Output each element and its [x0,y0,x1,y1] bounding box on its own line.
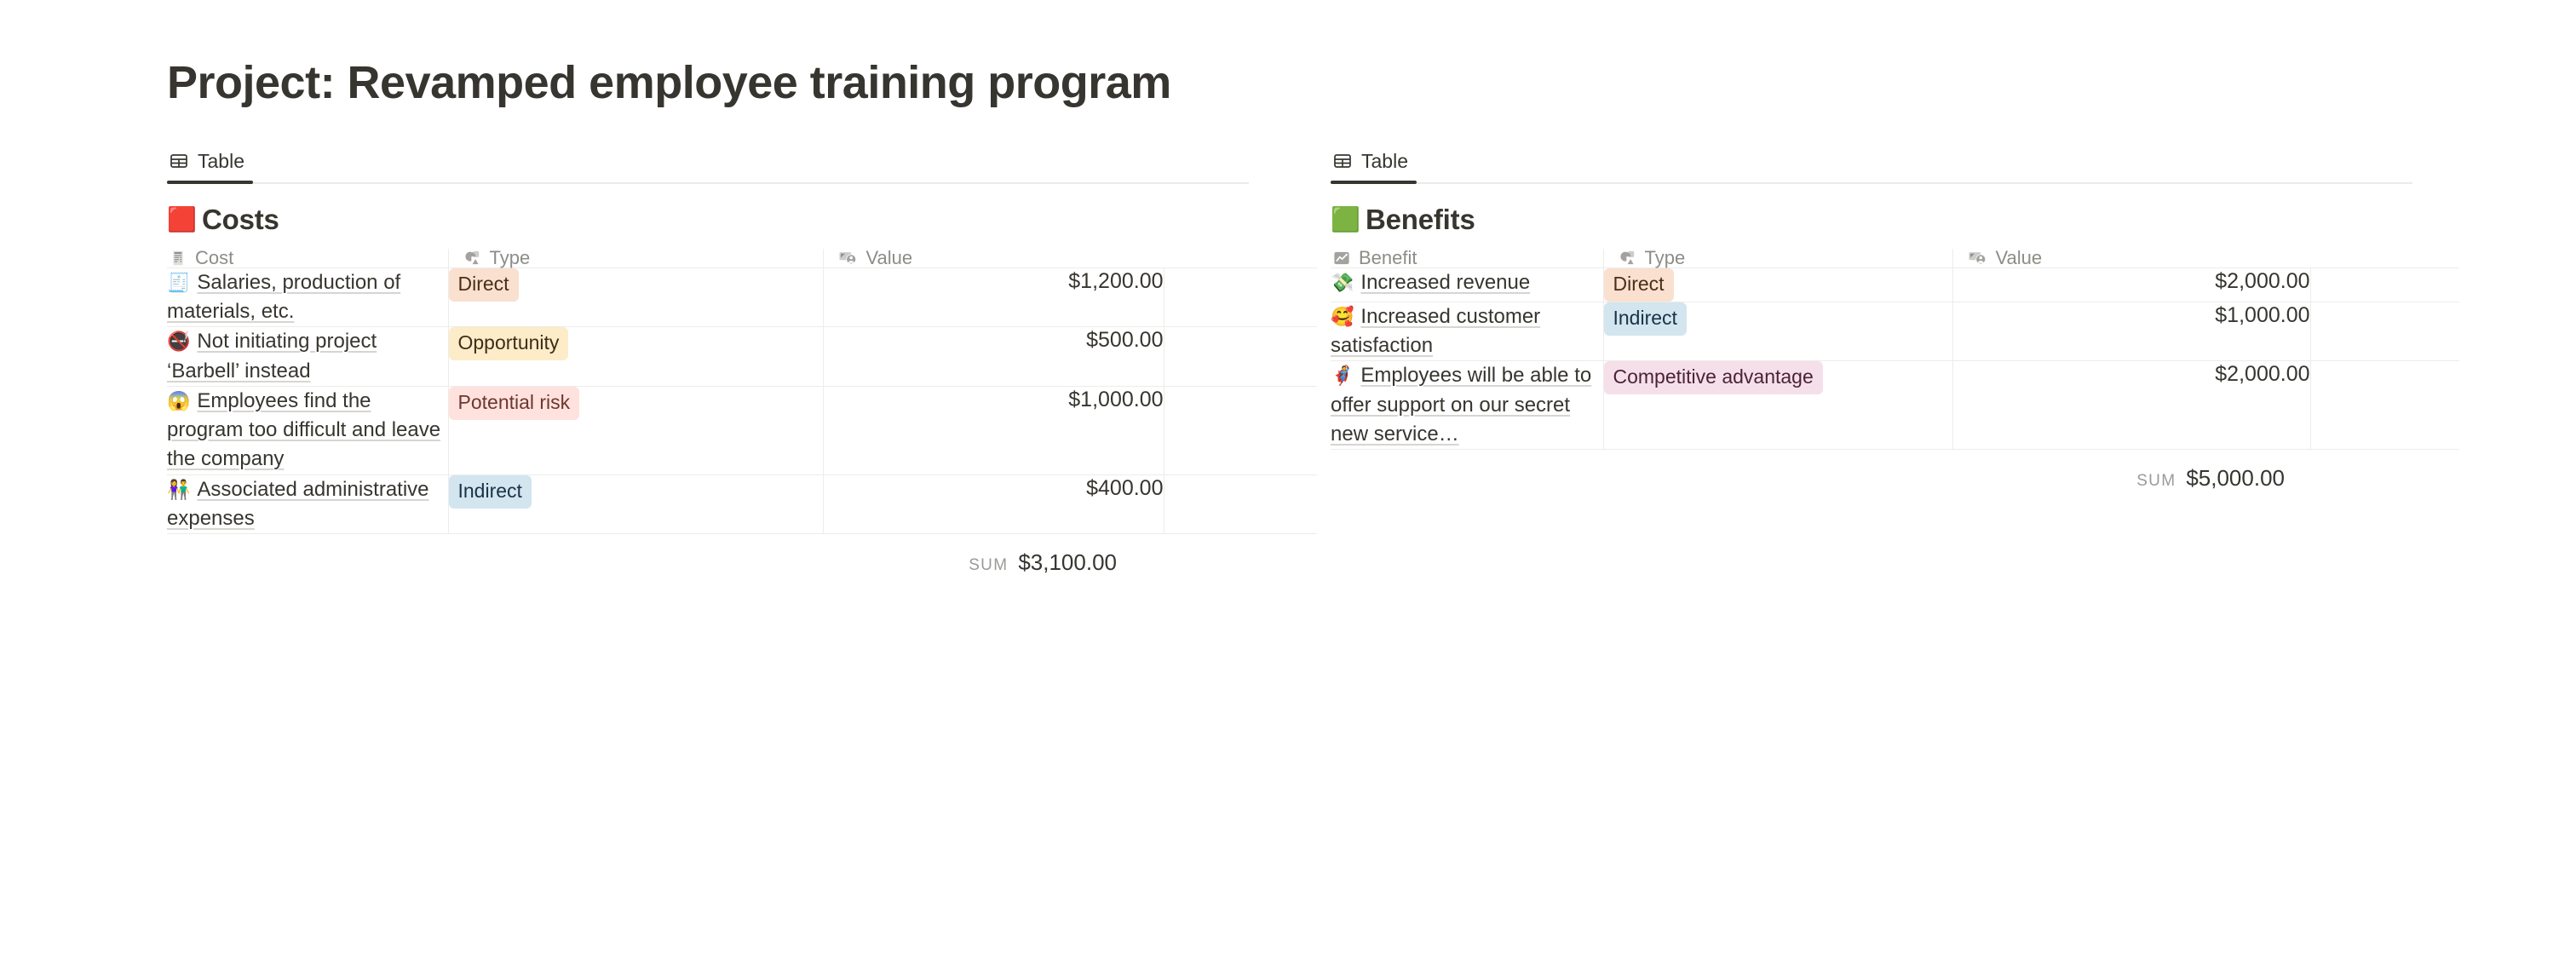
row-name-cell[interactable]: 🥰Increased customer satisfaction [1331,302,1603,361]
red-square-emoji: 🟥 [167,208,193,232]
column-header-benefit[interactable]: Benefit [1331,249,1603,268]
benefits-table-header: Benefit Type [1331,249,2459,268]
value-number: $500.00 [1086,328,1163,352]
database-board: Table 🟥 Costs [167,136,2467,576]
type-tag: Potential risk [449,387,580,420]
value-number: $2,000.00 [2215,362,2309,386]
tab-label: Table [1361,152,1408,171]
smiling-face-with-hearts-emoji: 🥰 [1331,306,1354,327]
green-square-emoji: 🟩 [1331,208,1356,232]
screaming-face-emoji: 😱 [167,390,190,411]
table-row[interactable]: 💸Increased revenue Direct $2,000.00 [1331,267,2459,302]
column-header-type[interactable]: Type [1603,249,1952,268]
costs-panel: Table 🟥 Costs [167,136,1249,576]
select-icon [1619,249,1637,267]
column-header-label: Type [490,249,531,267]
benefits-view-tabs: Table [1331,136,2412,184]
row-value-cell[interactable]: $1,000.00 [823,386,1164,474]
receipt-icon [169,249,187,267]
money-with-wings-emoji: 💸 [1331,272,1354,293]
value-number: $1,200.00 [1068,269,1163,293]
column-header-label: Value [1996,249,2043,267]
benefits-database-title[interactable]: 🟩 Benefits [1331,203,2412,237]
row-blank-cell[interactable] [1164,327,1317,387]
value-number: $1,000.00 [1068,388,1163,411]
row-type-cell[interactable]: Direct [448,267,823,327]
column-header-cost[interactable]: Cost [167,249,448,268]
row-type-cell[interactable]: Indirect [1603,302,1952,361]
value-number: $2,000.00 [2215,269,2309,293]
tab-label: Table [198,152,244,171]
table-row[interactable]: 👫Associated administrative expenses Indi… [167,474,1317,534]
row-title-link[interactable]: Employees find the program too difficult… [167,389,440,471]
row-name-cell[interactable]: 🚭Not initiating project ‘Barbell’ instea… [167,327,448,387]
row-title-link[interactable]: Salaries, production of materials, etc. [167,271,400,323]
row-value-cell[interactable]: $500.00 [823,327,1164,387]
column-header-value[interactable]: Value [1952,249,2459,268]
row-blank-cell[interactable] [1164,474,1317,534]
benefits-panel: Table 🟩 Benefits [1331,136,2412,492]
page-title: Project: Revamped employee training prog… [167,56,1171,109]
column-header-type[interactable]: Type [448,249,823,268]
table-row[interactable]: 😱Employees find the program too difficul… [167,386,1317,474]
sum-value: $3,100.00 [1018,549,1117,576]
row-value-cell[interactable]: $1,200.00 [823,267,1164,327]
benefits-table: Benefit Type [1331,249,2459,451]
row-blank-cell[interactable] [1164,386,1317,474]
row-title-link[interactable]: Employees will be able to offer support … [1331,364,1591,446]
superhero-emoji: 🦸 [1331,365,1354,386]
table-row[interactable]: 🥰Increased customer satisfaction Indirec… [1331,302,2459,361]
people-emoji: 👫 [167,479,190,500]
tab-table-benefits[interactable]: Table [1331,140,1417,182]
column-header-label: Cost [195,249,233,267]
benefits-sum-row[interactable]: SUM $5,000.00 [1331,450,2412,492]
sum-label: SUM [969,556,1008,575]
table-row[interactable]: 🚭Not initiating project ‘Barbell’ instea… [167,327,1317,387]
row-title-link[interactable]: Increased revenue [1360,271,1530,294]
value-number: $1,000.00 [2215,303,2309,327]
column-header-label: Type [1645,249,1686,267]
type-tag: Direct [1604,268,1674,302]
column-header-value[interactable]: Value [823,249,1317,268]
table-row[interactable]: 🧾Salaries, production of materials, etc.… [167,267,1317,327]
costs-view-tabs: Table [167,136,1249,184]
row-value-cell[interactable]: $2,000.00 [1952,267,2310,302]
chart-icon [1332,249,1351,267]
row-blank-cell[interactable] [1164,267,1317,327]
no-littering-emoji: 🚭 [167,331,190,352]
costs-title-text: Costs [202,203,279,237]
row-name-cell[interactable]: 💸Increased revenue [1331,267,1603,302]
row-type-cell[interactable]: Potential risk [448,386,823,474]
row-value-cell[interactable]: $400.00 [823,474,1164,534]
costs-database-title[interactable]: 🟥 Costs [167,203,1249,237]
money-icon [838,249,859,267]
value-number: $400.00 [1086,476,1163,500]
costs-sum-row[interactable]: SUM $3,100.00 [167,534,1249,576]
row-blank-cell[interactable] [2310,302,2459,361]
row-type-cell[interactable]: Direct [1603,267,1952,302]
costs-table: Cost Type [167,249,1317,535]
sum-label: SUM [2136,472,2176,491]
table-icon [169,151,189,171]
row-name-cell[interactable]: 😱Employees find the program too difficul… [167,386,448,474]
tab-table-costs[interactable]: Table [167,140,253,182]
benefits-table-body: 💸Increased revenue Direct $2,000.00 🥰In [1331,267,2459,450]
type-tag: Direct [449,268,519,302]
benefits-title-text: Benefits [1366,203,1475,237]
row-value-cell[interactable]: $1,000.00 [1952,302,2310,361]
row-type-cell[interactable]: Opportunity [448,327,823,387]
row-title-link[interactable]: Increased customer satisfaction [1331,305,1540,357]
row-name-cell[interactable]: 🧾Salaries, production of materials, etc. [167,267,448,327]
row-name-cell[interactable]: 🦸Employees will be able to offer support… [1331,361,1603,450]
row-title-link[interactable]: Not initiating project ‘Barbell’ instead [167,330,377,382]
row-blank-cell[interactable] [2310,361,2459,450]
select-icon [463,249,482,267]
type-tag: Indirect [1604,302,1687,336]
table-row[interactable]: 🦸Employees will be able to offer support… [1331,361,2459,450]
type-tag: Competitive advantage [1604,361,1823,394]
row-blank-cell[interactable] [2310,267,2459,302]
type-tag: Indirect [449,475,532,509]
row-value-cell[interactable]: $2,000.00 [1952,361,2310,450]
row-name-cell[interactable]: 👫Associated administrative expenses [167,474,448,534]
row-type-cell[interactable]: Competitive advantage [1603,361,1952,450]
costs-table-header: Cost Type [167,249,1317,268]
type-tag: Opportunity [449,327,569,360]
receipt-emoji: 🧾 [167,272,190,293]
costs-table-body: 🧾Salaries, production of materials, etc.… [167,267,1317,534]
money-icon [1968,249,1988,267]
column-header-label: Benefit [1359,249,1417,267]
sum-value: $5,000.00 [2186,465,2285,492]
column-header-label: Value [866,249,913,267]
row-type-cell[interactable]: Indirect [448,474,823,534]
table-icon [1332,151,1353,171]
row-title-link[interactable]: Associated administrative expenses [167,478,429,530]
